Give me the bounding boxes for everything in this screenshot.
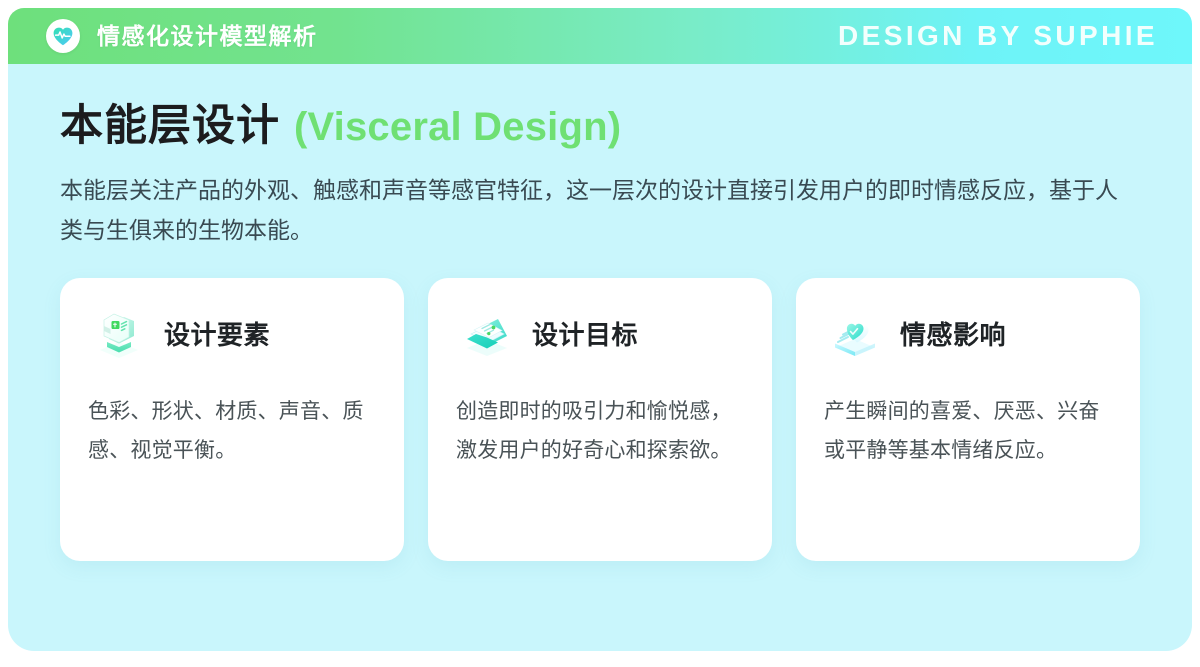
slide-header: 情感化设计模型解析 DESIGN BY SUPHIE: [8, 8, 1192, 64]
card-header: 设计目标: [456, 304, 744, 366]
card-title: 情感影响: [900, 321, 1006, 350]
content-panel: 本能层设计 (Visceral Design) 本能层关注产品的外观、触感和声音…: [8, 64, 1192, 651]
open-folder-icon: [456, 304, 518, 366]
heartbeat-shield-icon: [46, 19, 80, 53]
card-header: 设计要素: [88, 304, 376, 366]
heart-burst-icon: [824, 304, 886, 366]
card-emotional-impact[interactable]: 情感影响 产生瞬间的喜爱、厌恶、兴奋或平静等基本情绪反应。: [796, 278, 1140, 561]
section-description: 本能层关注产品的外观、触感和声音等感官特征，这一层次的设计直接引发用户的即时情感…: [60, 171, 1122, 250]
section-title-row: 本能层设计 (Visceral Design): [60, 104, 1140, 149]
header-title: 情感化设计模型解析: [97, 25, 318, 48]
header-credit: DESIGN BY SUPHIE: [838, 22, 1158, 50]
card-title: 设计要素: [164, 321, 270, 350]
header-brand-group: 情感化设计模型解析: [46, 19, 318, 53]
card-title: 设计目标: [532, 321, 638, 350]
document-stand-icon: [88, 304, 150, 366]
card-body-text: 产生瞬间的喜爱、厌恶、兴奋或平静等基本情绪反应。: [824, 392, 1112, 470]
card-grid: 设计要素 色彩、形状、材质、声音、质感、视觉平衡。: [60, 278, 1140, 561]
page-title-en: (Visceral Design): [294, 106, 621, 148]
card-design-elements[interactable]: 设计要素 色彩、形状、材质、声音、质感、视觉平衡。: [60, 278, 404, 561]
card-body-text: 创造即时的吸引力和愉悦感，激发用户的好奇心和探索欲。: [456, 392, 744, 470]
page-title-cn: 本能层设计: [60, 104, 280, 149]
slide-root: 情感化设计模型解析 DESIGN BY SUPHIE 本能层设计 (Viscer…: [0, 0, 1200, 667]
card-header: 情感影响: [824, 304, 1112, 366]
card-design-goals[interactable]: 设计目标 创造即时的吸引力和愉悦感，激发用户的好奇心和探索欲。: [428, 278, 772, 561]
card-body-text: 色彩、形状、材质、声音、质感、视觉平衡。: [88, 392, 376, 470]
